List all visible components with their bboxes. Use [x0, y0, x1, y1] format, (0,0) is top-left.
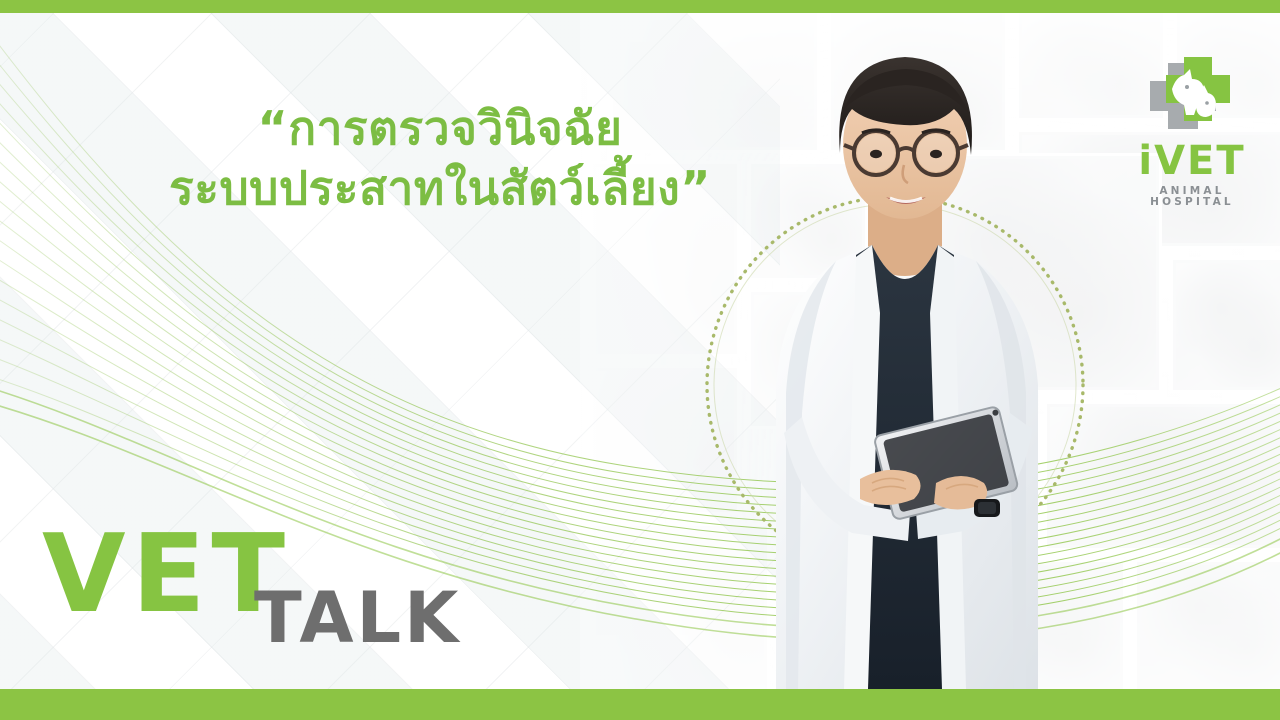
page-title: “การตรวจวินิจฉัย ระบบประสาทในสัตว์เลี้ยง…: [120, 99, 760, 219]
ivet-wordmark-vet: VET: [1154, 138, 1246, 184]
title-slide: “การตรวจวินิจฉัย ระบบประสาทในสัตว์เลี้ยง…: [0, 0, 1280, 720]
ivet-wordmark: iVET: [1128, 141, 1256, 181]
ivet-logo: iVET ANIMAL HOSPITAL: [1128, 43, 1256, 207]
top-accent-bar: [0, 0, 1280, 13]
brand-talk-text: TALK: [254, 583, 461, 653]
title-line-1: “การตรวจวินิจฉัย: [120, 99, 760, 159]
bottom-accent-bar: [0, 689, 1280, 720]
ivet-wordmark-i: i: [1138, 138, 1154, 184]
slide-stage: “การตรวจวินิจฉัย ระบบประสาทในสัตว์เลี้ยง…: [0, 13, 1280, 689]
presenter-photo: [740, 13, 1070, 689]
ivet-cross-icon: [1146, 43, 1238, 135]
ivet-tagline: ANIMAL HOSPITAL: [1128, 186, 1256, 207]
title-line-2: ระบบประสาทในสัตว์เลี้ยง”: [120, 159, 760, 219]
